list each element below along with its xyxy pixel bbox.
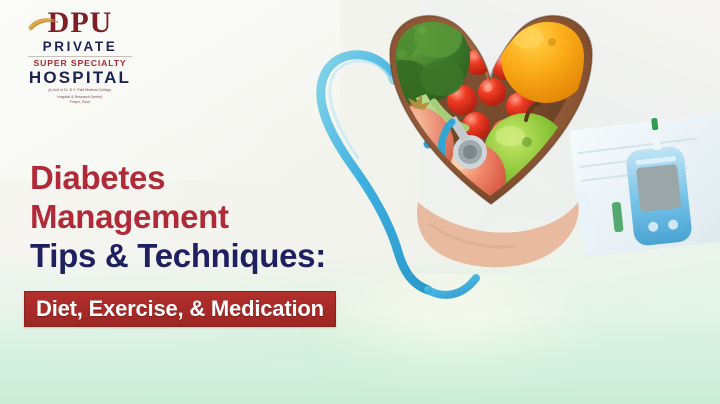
logo-fine-print-3: Pimpri, Pune	[20, 101, 140, 104]
subtitle-text: Diet, Exercise, & Medication	[36, 296, 324, 322]
logo-fine-print-1: (A Unit of Dr. D.Y. Patil Medical Colleg…	[22, 88, 137, 93]
logo-brand: DPU	[20, 8, 140, 38]
hospital-logo: DPU PRIVATE SUPER SPECIALTY HOSPITAL (A …	[20, 8, 140, 104]
hand	[417, 202, 579, 267]
logo-hospital-label: HOSPITAL	[20, 69, 140, 86]
logo-private-label: PRIVATE	[20, 40, 140, 54]
subtitle-banner: Diet, Exercise, & Medication	[24, 291, 336, 327]
headline-line-2: Management	[30, 197, 326, 236]
headline-line-1: Diabetes	[30, 158, 326, 197]
heart-bowl-produce-image	[330, 0, 720, 296]
logo-divider	[28, 56, 132, 57]
logo-fine-print-2: Hospital & Research Centre)	[22, 95, 137, 100]
diabetes-management-banner: DPU PRIVATE SUPER SPECIALTY HOSPITAL (A …	[0, 0, 720, 404]
logo-specialty-label: SUPER SPECIALTY	[20, 59, 140, 68]
headline-block: Diabetes Management Tips & Techniques:	[30, 158, 326, 275]
headline-line-3: Tips & Techniques:	[30, 236, 326, 275]
